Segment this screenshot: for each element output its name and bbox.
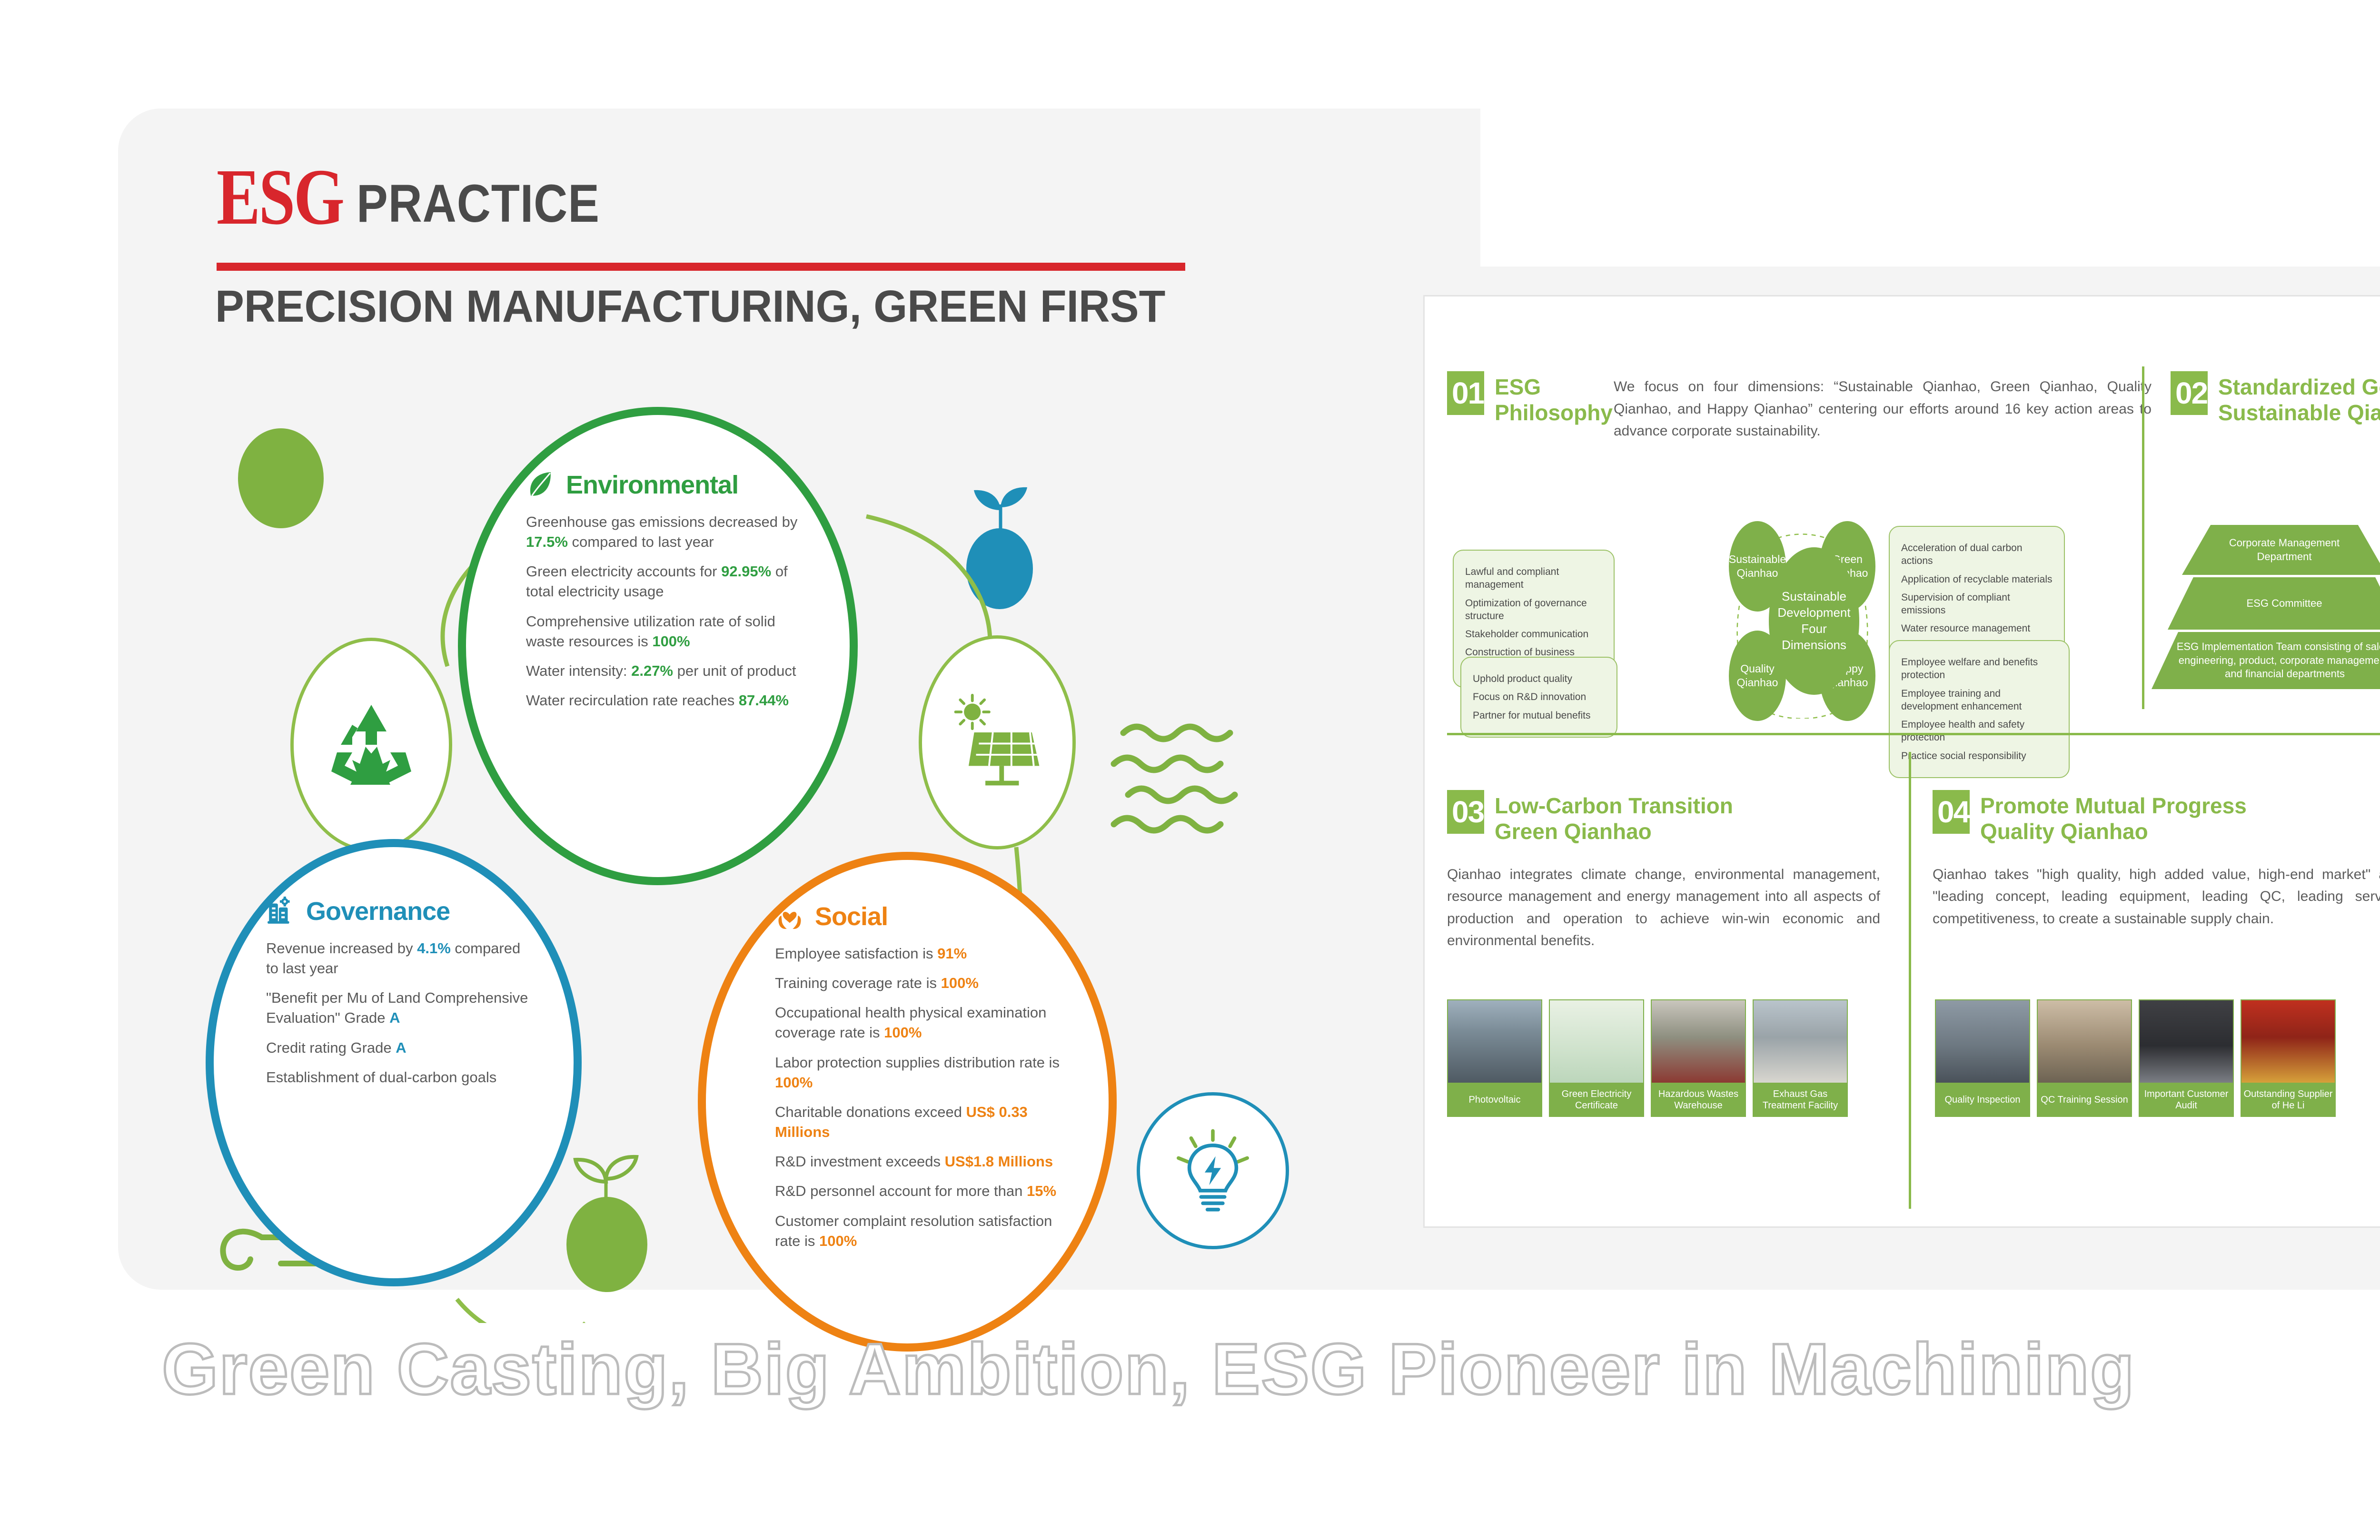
section-04-title-2: Quality Qianhao: [1980, 819, 2247, 844]
heart-hands-icon: [775, 902, 804, 931]
section-04-tiles: Quality InspectionQC Training SessionImp…: [1935, 999, 2336, 1117]
list-item: Establishment of dual-carbon goals: [266, 1067, 533, 1087]
list-item: Occupational health physical examination…: [775, 1003, 1061, 1043]
governance-list: Revenue increased by 4.1% compared to la…: [266, 938, 533, 1097]
photo-thumbnail: [1651, 999, 1746, 1083]
section-04-number: 04: [1933, 790, 1970, 834]
social-title: Social: [815, 902, 888, 931]
list-item: Customer complaint resolution satisfacti…: [775, 1211, 1061, 1251]
divider-vertical-2: [1909, 752, 1911, 1209]
governance-label: Governance: [266, 897, 533, 926]
solar-panel-bubble: [919, 635, 1076, 849]
section-01-body: We focus on four dimensions: “Sustainabl…: [1614, 376, 2152, 443]
list-item: Training coverage rate is 100%: [775, 973, 1061, 993]
list-item: Optimization of governance structure: [1465, 597, 1602, 623]
list-item: Credit rating Grade A: [266, 1038, 533, 1058]
list-item: Greenhouse gas emissions decreased by 17…: [526, 512, 812, 552]
governance-bubble: Governance Revenue increased by 4.1% com…: [206, 839, 582, 1286]
photo-caption: Photovoltaic: [1447, 1083, 1542, 1117]
list-item: Comprehensive utilization rate of solid …: [526, 612, 812, 652]
infobox-quality-dimension: Uphold product qualityFocus on R&D innov…: [1460, 657, 1617, 738]
list-item: Employee training and development enhanc…: [1901, 687, 2057, 713]
section-03: 03 Low-Carbon Transition Green Qianhao Q…: [1447, 790, 1880, 952]
logo-esg: ESG: [217, 157, 343, 237]
photo-thumbnail: [2037, 999, 2132, 1083]
list-item: Lawful and compliant management: [1465, 565, 1602, 592]
lightbulb-bubble: [1137, 1092, 1289, 1249]
section-03-tiles: PhotovoltaicGreen Electricity Certificat…: [1447, 999, 1848, 1117]
list-item: Water intensity: 2.27% per unit of produ…: [526, 661, 812, 681]
bottom-tagline: Green Casting, Big Ambition, ESG Pioneer…: [162, 1328, 2380, 1411]
section-02-title-1: Standardized Governance: [2218, 374, 2380, 400]
photo-caption: QC Training Session: [2037, 1083, 2132, 1117]
logo-practice: PRACTICE: [357, 173, 600, 234]
photo-caption: Exhaust Gas Treatment Facility: [1753, 1083, 1848, 1117]
photo-tile[interactable]: Quality Inspection: [1935, 999, 2030, 1117]
photo-caption: Quality Inspection: [1935, 1083, 2030, 1117]
section-02-number: 02: [2171, 371, 2208, 415]
photo-thumbnail: [2139, 999, 2234, 1083]
recycle-bubble: [290, 638, 452, 852]
environmental-label: Environmental: [526, 470, 812, 500]
photo-thumbnail: [1447, 999, 1542, 1083]
photo-caption: Outstanding Supplier of He Li: [2241, 1083, 2336, 1117]
list-item: Practice social responsibility: [1901, 750, 2057, 762]
list-item: Stakeholder communication: [1465, 628, 1602, 641]
section-02: 02 Standardized Governance Sustainable Q…: [2171, 371, 2380, 426]
environmental-bubble: Environmental Greenhouse gas emissions d…: [458, 407, 858, 885]
four-dimensions-core: Sustainable Development Four Dimensions: [1769, 547, 1859, 695]
section-01-title-1: ESG: [1495, 374, 1613, 400]
leaf-icon: [526, 470, 555, 500]
list-item: Employee satisfaction is 91%: [775, 944, 1061, 964]
list-item: Charitable donations exceed US$ 0.33 Mil…: [775, 1102, 1061, 1142]
environmental-list: Greenhouse gas emissions decreased by 17…: [526, 512, 812, 720]
list-item: Application of recyclable materials: [1901, 573, 2053, 586]
section-03-body: Qianhao integrates climate change, envir…: [1447, 864, 1880, 952]
header-rule: [217, 263, 1185, 271]
list-item: Uphold product quality: [1473, 672, 1605, 685]
list-item: Labor protection supplies distribution r…: [775, 1053, 1061, 1093]
section-03-title-1: Low-Carbon Transition: [1495, 793, 1733, 819]
list-item: R&D investment exceeds US$1.8 Millions: [775, 1152, 1061, 1172]
photo-thumbnail: [2241, 999, 2336, 1083]
photo-tile[interactable]: Exhaust Gas Treatment Facility: [1753, 999, 1848, 1117]
section-04-body: Qianhao takes "high quality, high added …: [1933, 864, 2380, 930]
list-item: R&D personnel account for more than 15%: [775, 1181, 1061, 1201]
building-gear-icon: [266, 897, 296, 926]
list-item: Partner for mutual benefits: [1473, 709, 1605, 722]
social-bubble: Social Employee satisfaction is 91%Train…: [698, 852, 1117, 1352]
infobox-happy-dimension: Employee welfare and benefits protection…: [1889, 640, 2070, 778]
list-item: Employee welfare and benefits protection: [1901, 656, 2057, 682]
list-item: Employee health and safety protection: [1901, 718, 2057, 744]
list-item: Focus on R&D innovation: [1473, 691, 1605, 703]
logo-block: ESGPRACTICE: [217, 157, 1264, 237]
photo-tile[interactable]: Outstanding Supplier of He Li: [2241, 999, 2336, 1117]
lightbulb-icon: [1168, 1125, 1258, 1216]
governance-title: Governance: [306, 897, 450, 926]
section-04: 04 Promote Mutual Progress Quality Qianh…: [1933, 790, 2380, 930]
pyramid-tier-3: ESG Implementation Team consisting of sa…: [2152, 632, 2380, 689]
list-item: Water recirculation rate reaches 87.44%: [526, 691, 812, 711]
photo-caption: Important Customer Audit: [2139, 1083, 2234, 1117]
section-04-title-1: Promote Mutual Progress: [1980, 793, 2247, 819]
list-item: Revenue increased by 4.1% compared to la…: [266, 938, 533, 978]
photo-thumbnail: [1549, 999, 1644, 1083]
list-item: Acceleration of dual carbon actions: [1901, 542, 2053, 568]
recycle-icon: [324, 697, 419, 792]
pyramid-tier-1: Corporate Management Department: [2182, 525, 2380, 575]
social-list: Employee satisfaction is 91%Training cov…: [775, 944, 1061, 1261]
section-03-number: 03: [1447, 790, 1484, 834]
list-item: Supervision of compliant emissions: [1901, 591, 2053, 617]
section-01-number: 01: [1447, 371, 1484, 415]
list-item: "Benefit per Mu of Land Comprehensive Ev…: [266, 988, 533, 1028]
section-02-title-2: Sustainable Qianhao: [2218, 400, 2380, 425]
photo-tile[interactable]: QC Training Session: [2037, 999, 2132, 1117]
divider-horizontal: [1447, 733, 2380, 735]
header-subtitle: PRECISION MANUFACTURING, GREEN FIRST: [215, 281, 1165, 333]
pyramid-tier-2: ESG Committee: [2168, 577, 2380, 630]
environmental-title: Environmental: [566, 470, 738, 500]
list-item: Water resource management: [1901, 622, 2053, 635]
photo-tile[interactable]: Important Customer Audit: [2139, 999, 2234, 1117]
photo-thumbnail: [1935, 999, 2030, 1083]
section-01-title-2: Philosophy: [1495, 400, 1613, 425]
solar-panel-icon: [946, 691, 1049, 794]
social-label: Social: [775, 902, 1061, 931]
photo-tile[interactable]: Hazardous Wastes Warehouse: [1651, 999, 1746, 1117]
photo-caption: Green Electricity Certificate: [1549, 1083, 1644, 1117]
divider-vertical-1: [2142, 366, 2144, 709]
section-03-title-2: Green Qianhao: [1495, 819, 1733, 844]
photo-caption: Hazardous Wastes Warehouse: [1651, 1083, 1746, 1117]
list-item: Green electricity accounts for 92.95% of…: [526, 562, 812, 602]
photo-tile[interactable]: Photovoltaic: [1447, 999, 1542, 1117]
photo-thumbnail: [1753, 999, 1848, 1083]
photo-tile[interactable]: Green Electricity Certificate: [1549, 999, 1644, 1117]
